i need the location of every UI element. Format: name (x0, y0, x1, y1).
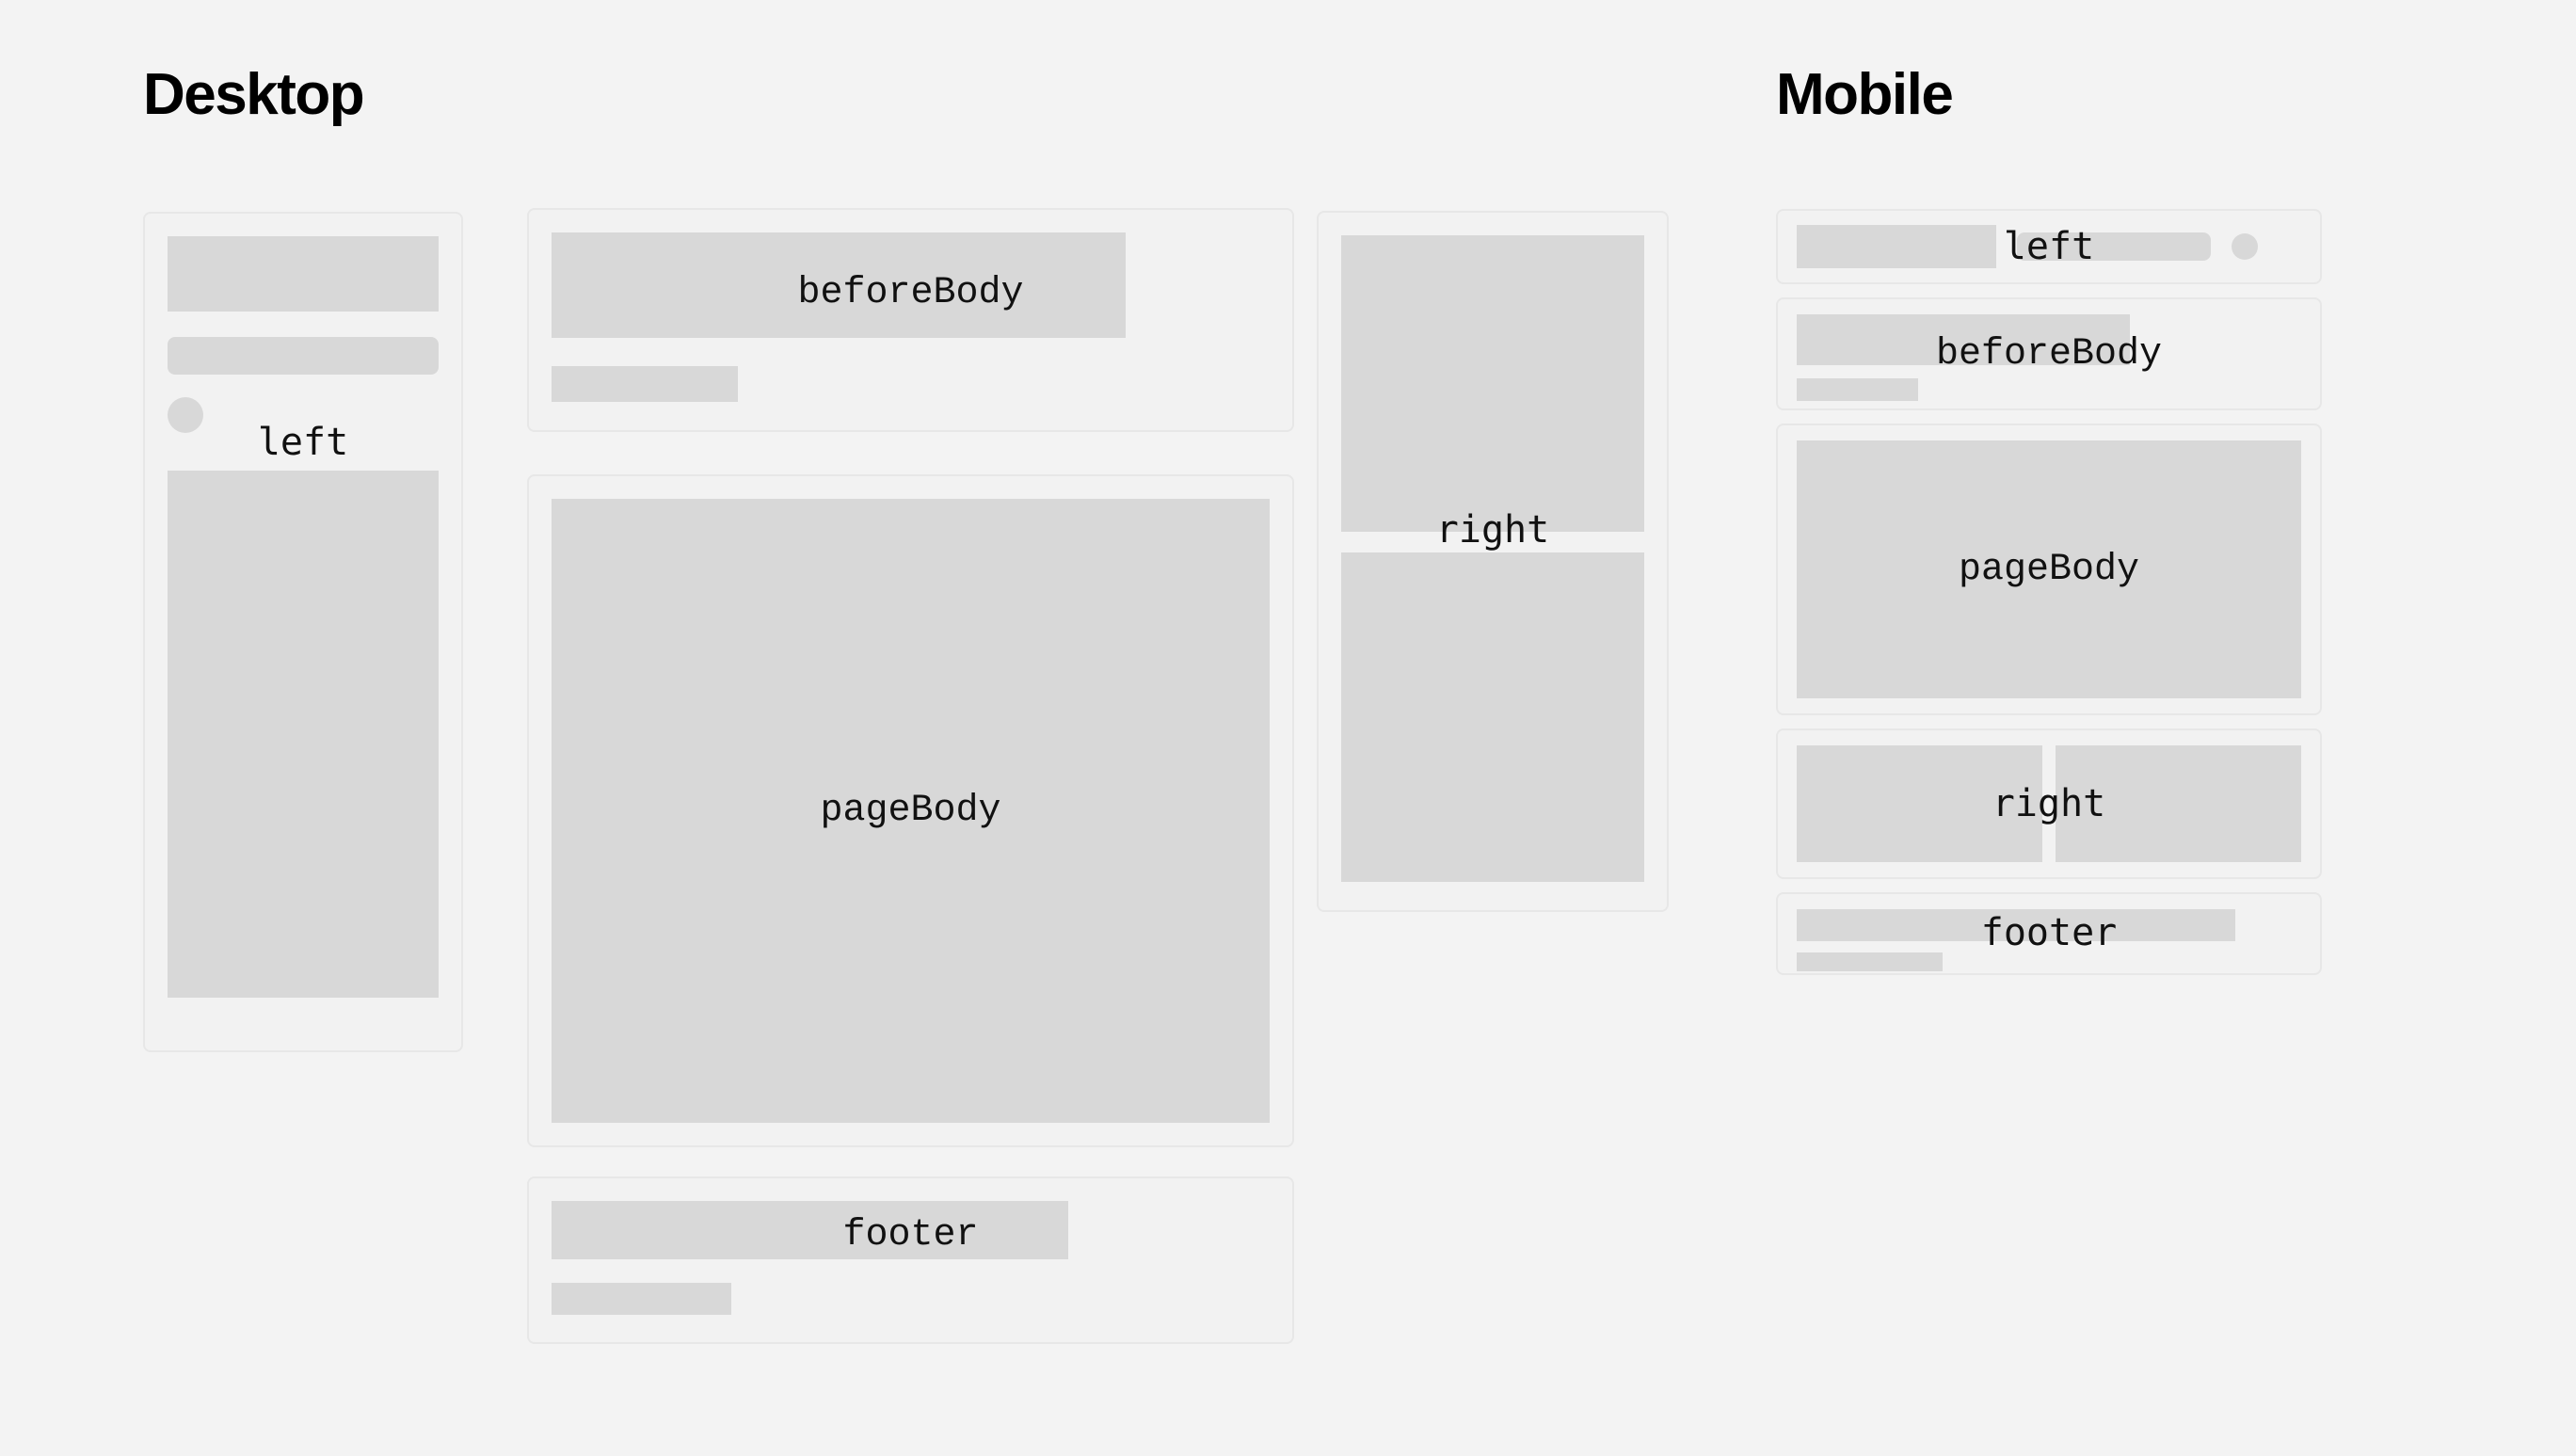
skeleton-block (1797, 909, 2235, 941)
skeleton-block (1341, 552, 1644, 882)
skeleton-bar (2017, 232, 2211, 261)
skeleton-bar (1797, 378, 1918, 401)
desktop-region-footer[interactable]: footer (527, 1176, 1294, 1344)
mobile-column: left beforeBody pageBody right (1776, 209, 2322, 988)
skeleton-block (552, 232, 1126, 338)
skeleton-block (1797, 314, 2130, 365)
desktop-region-pagebody[interactable]: pageBody (527, 474, 1294, 1147)
layout-preview-stage: Desktop left beforeBody pageBody (0, 0, 2576, 1456)
mobile-region-pagebody[interactable]: pageBody (1776, 424, 2322, 715)
skeleton-block (168, 236, 439, 312)
mobile-section-title: Mobile (1776, 66, 1952, 124)
skeleton-block (1797, 225, 1996, 268)
skeleton-block (1341, 235, 1644, 532)
skeleton-bar (552, 366, 738, 402)
mobile-region-beforebody[interactable]: beforeBody (1776, 297, 2322, 410)
mobile-region-right[interactable]: right (1776, 728, 2322, 879)
desktop-region-left[interactable]: left (143, 212, 463, 1052)
desktop-center-column: beforeBody pageBody footer (527, 208, 1294, 1337)
desktop-region-right[interactable]: right (1317, 211, 1669, 912)
desktop-region-beforebody[interactable]: beforeBody (527, 208, 1294, 432)
skeleton-bar (1797, 952, 1943, 971)
skeleton-block (552, 1201, 1068, 1259)
skeleton-block (168, 471, 439, 998)
desktop-section-title: Desktop (143, 66, 363, 124)
skeleton-block (552, 499, 1270, 1123)
mobile-region-left[interactable]: left (1776, 209, 2322, 284)
skeleton-bar (552, 1283, 731, 1315)
skeleton-avatar-circle (2232, 233, 2258, 260)
skeleton-bar (168, 337, 439, 375)
skeleton-block (2056, 745, 2301, 862)
skeleton-avatar-circle (168, 397, 203, 433)
mobile-region-footer[interactable]: footer (1776, 892, 2322, 975)
skeleton-block (1797, 440, 2301, 698)
skeleton-block (1797, 745, 2042, 862)
